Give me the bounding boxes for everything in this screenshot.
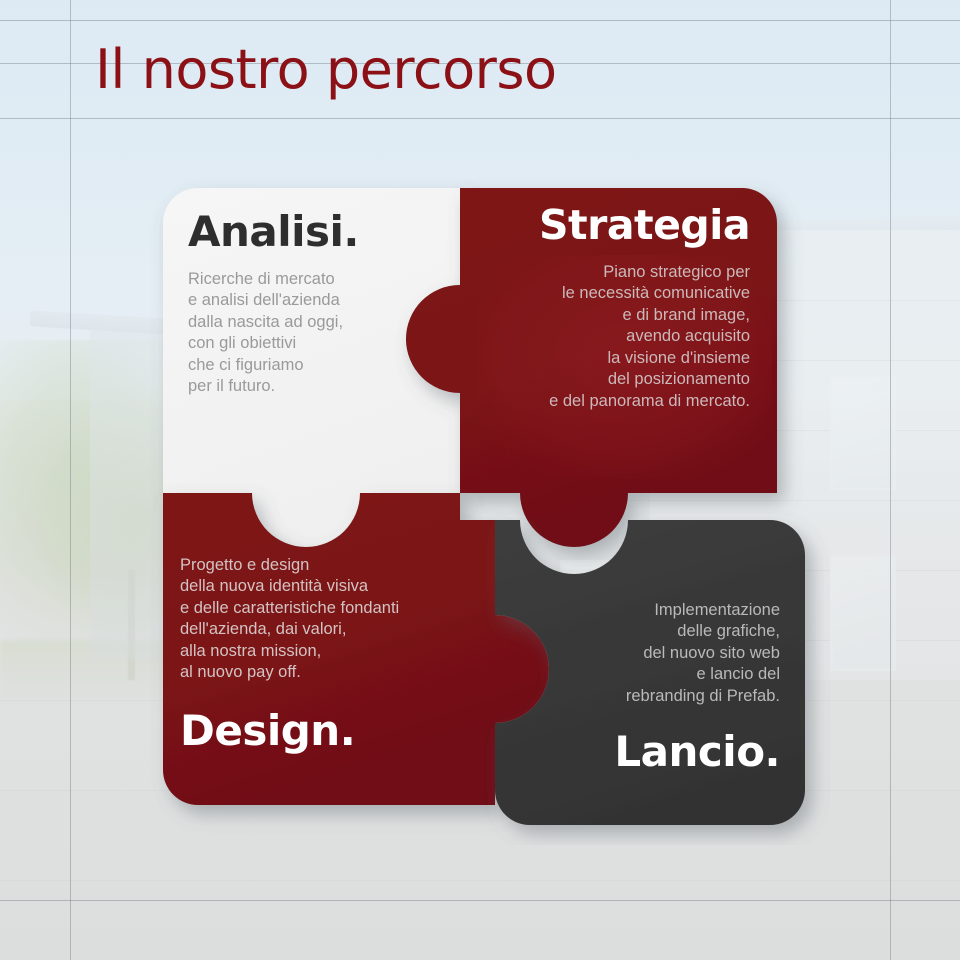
piece-analisi-body: Ricerche di mercato e analisi dell'azien…: [188, 269, 403, 398]
grid-line-horizontal: [0, 118, 960, 119]
piece-analisi-heading: Analisi.: [188, 211, 403, 253]
grid-line-horizontal: [0, 20, 960, 21]
piece-lancio-body: Implementazione delle grafiche, del nuov…: [550, 600, 780, 707]
piece-analisi-text: Analisi. Ricerche di mercato e analisi d…: [188, 211, 403, 398]
piece-design-text: Progetto e design della nuova identità v…: [180, 555, 490, 752]
slide-canvas: Il nostro percorso: [0, 0, 960, 960]
grid-line-vertical: [70, 0, 71, 960]
grid-line-vertical: [890, 0, 891, 960]
puzzle-diagram: Analisi. Ricerche di mercato e analisi d…: [150, 175, 830, 845]
piece-strategia-heading: Strategia: [480, 205, 750, 246]
piece-design-body: Progetto e design della nuova identità v…: [180, 555, 490, 684]
page-title: Il nostro percorso: [95, 42, 557, 99]
piece-lancio-heading: Lancio.: [550, 731, 780, 773]
piece-strategia-text: Strategia Piano strategico per le necess…: [480, 205, 750, 412]
piece-design-heading: Design.: [180, 710, 490, 752]
piece-lancio-text: Implementazione delle grafiche, del nuov…: [550, 600, 780, 773]
grid-line-horizontal: [0, 900, 960, 901]
piece-strategia-body: Piano strategico per le necessità comuni…: [480, 262, 750, 412]
